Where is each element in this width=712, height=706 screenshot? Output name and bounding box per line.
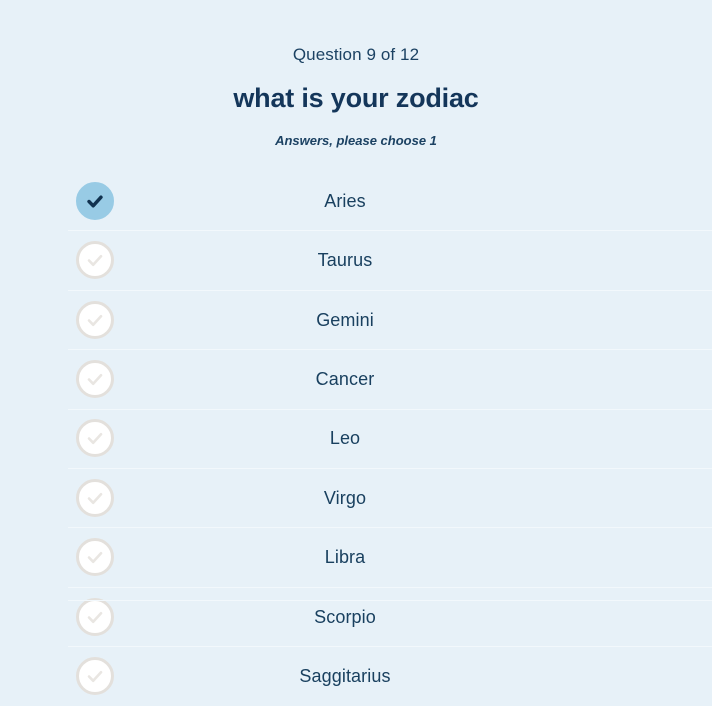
option-checkbox[interactable] — [76, 598, 114, 636]
option-row[interactable]: Cancer — [0, 349, 712, 408]
option-checkbox[interactable] — [76, 241, 114, 279]
options-list: AriesTaurusGeminiCancerLeoVirgoLibraScor… — [0, 171, 712, 706]
option-checkbox-selected[interactable] — [76, 182, 114, 220]
check-icon — [85, 547, 105, 567]
option-checkbox[interactable] — [76, 360, 114, 398]
option-row[interactable]: Libra — [0, 527, 712, 586]
option-row[interactable]: Leo — [0, 409, 712, 468]
option-row[interactable]: Virgo — [0, 468, 712, 527]
check-icon — [85, 310, 105, 330]
option-checkbox[interactable] — [76, 419, 114, 457]
check-icon — [85, 488, 105, 508]
option-checkbox[interactable] — [76, 479, 114, 517]
check-icon — [85, 666, 105, 686]
check-icon — [85, 369, 105, 389]
option-row[interactable]: Gemini — [0, 290, 712, 349]
option-checkbox[interactable] — [76, 657, 114, 695]
quiz-page: Question 9 of 12 what is your zodiac Ans… — [0, 0, 712, 701]
question-counter: Question 9 of 12 — [0, 44, 712, 66]
list-tail-divider — [68, 600, 712, 601]
check-icon — [85, 428, 105, 448]
quiz-header: Question 9 of 12 what is your zodiac Ans… — [0, 0, 712, 150]
option-row[interactable]: Scorpio — [0, 587, 712, 646]
check-icon — [85, 250, 105, 270]
option-row[interactable]: Saggitarius — [0, 646, 712, 705]
check-icon — [85, 607, 105, 627]
page-title: what is your zodiac — [0, 82, 712, 114]
option-checkbox[interactable] — [76, 301, 114, 339]
option-checkbox[interactable] — [76, 538, 114, 576]
check-icon — [85, 191, 105, 211]
option-row[interactable]: Aries — [0, 171, 712, 230]
answers-hint: Answers, please choose 1 — [0, 132, 712, 150]
option-row[interactable]: Taurus — [0, 230, 712, 289]
